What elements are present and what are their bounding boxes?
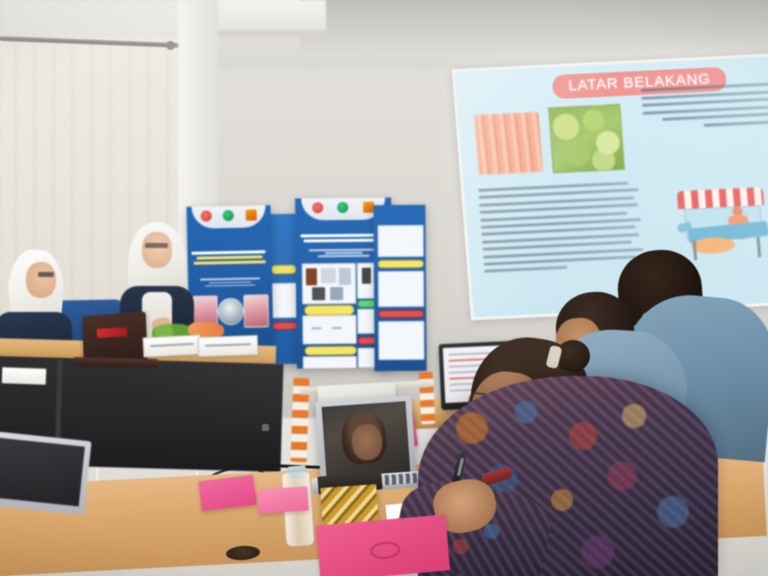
folder-ring-detail bbox=[370, 541, 401, 561]
institution-logo-icon bbox=[312, 202, 323, 213]
poster-content-box bbox=[302, 315, 356, 345]
pink-folder bbox=[257, 486, 309, 513]
author-photo bbox=[243, 294, 269, 328]
poster-section-header bbox=[378, 260, 424, 268]
desk-logo-plate bbox=[262, 424, 269, 431]
presenter-glasses bbox=[145, 243, 168, 248]
leaf-decoration-icon bbox=[675, 222, 692, 235]
market-stall-illustration bbox=[671, 184, 768, 263]
laptop-red-sticker bbox=[97, 327, 127, 338]
poster-logo-row bbox=[305, 201, 382, 215]
poster-section-header bbox=[271, 265, 297, 274]
name-card-text bbox=[205, 343, 251, 347]
curtain-rail-end-cap bbox=[166, 41, 175, 50]
laptop-foreground-left-screen bbox=[0, 438, 85, 507]
carrot-photo bbox=[474, 112, 543, 175]
reflected-face-detail bbox=[351, 423, 383, 461]
poster-title-block bbox=[192, 251, 268, 266]
poster-subtitle-block bbox=[309, 249, 378, 258]
seated-woman-glasses bbox=[38, 272, 54, 277]
poster-logo-row bbox=[195, 208, 262, 222]
institution-logo-icon bbox=[338, 202, 349, 213]
photo-scene: LATAR BELAKANG bbox=[0, 0, 768, 576]
institution-logo-icon bbox=[245, 209, 256, 220]
broccoli-photo bbox=[548, 104, 625, 173]
poster-section-header bbox=[304, 305, 354, 316]
poster-content-box bbox=[378, 271, 424, 307]
pink-folder-large bbox=[316, 514, 450, 576]
presenter-face bbox=[142, 232, 172, 268]
slide-body-text-left bbox=[478, 181, 645, 277]
poster-section-header bbox=[304, 346, 356, 356]
name-card bbox=[198, 335, 259, 357]
batik-man-hair-bun bbox=[556, 340, 590, 372]
poster-section-header bbox=[272, 322, 298, 330]
stall-produce bbox=[690, 236, 735, 254]
poster-far-right bbox=[373, 205, 426, 371]
projection-screen: LATAR BELAKANG bbox=[455, 56, 768, 317]
institution-logo-icon bbox=[223, 210, 234, 221]
poster-subtitle-block bbox=[200, 278, 261, 287]
paper-sheet bbox=[2, 367, 47, 385]
poster-content-box bbox=[378, 225, 424, 257]
poster-content-box bbox=[378, 321, 424, 360]
organization-seal-icon bbox=[218, 297, 244, 325]
name-card bbox=[143, 334, 202, 357]
stall-leg bbox=[757, 237, 762, 257]
name-card-text bbox=[150, 343, 194, 347]
ceiling-shadow bbox=[300, 0, 768, 54]
poster-content-box bbox=[302, 262, 356, 304]
presentation-slide: LATAR BELAKANG bbox=[455, 56, 768, 317]
institution-logo-icon bbox=[201, 210, 212, 221]
seated-woman-face bbox=[26, 262, 56, 298]
poster-content-box bbox=[271, 283, 298, 318]
slide-body-text-right bbox=[641, 82, 768, 134]
poster-content-box bbox=[303, 356, 357, 369]
poster-section-header bbox=[378, 309, 424, 317]
